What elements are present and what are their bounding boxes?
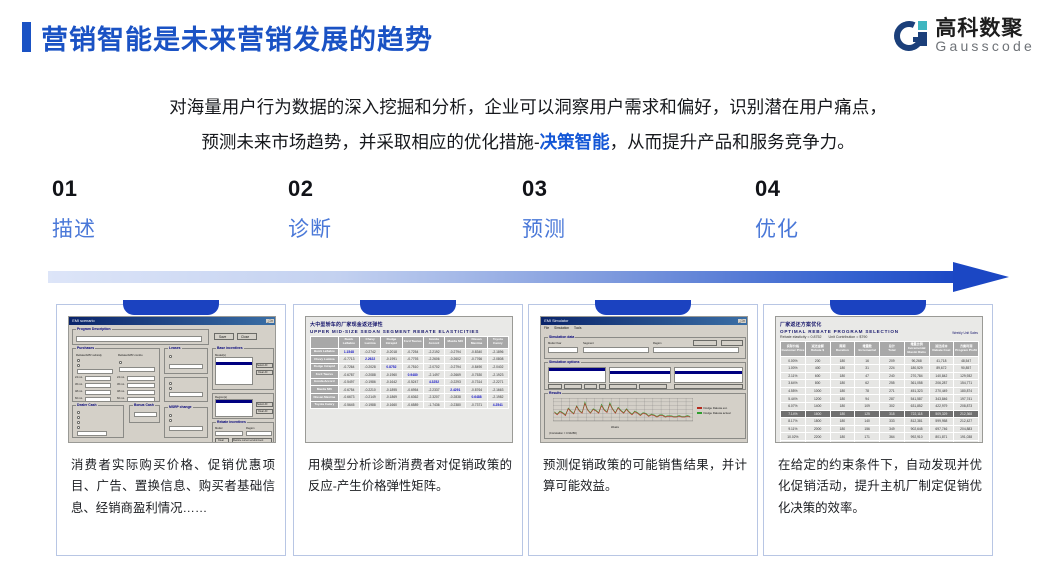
btn-clear-all-1: Clear All	[258, 371, 267, 374]
card-04-caption: 在给定的约束条件下，自动发现并优化促销活动，提升主机厂制定促销优化决策的效率。	[778, 455, 982, 519]
card-row: EMI scenario_□× Program Description Save…	[0, 300, 1051, 556]
lbl-base-incentives: Base incentives	[216, 346, 244, 350]
row2-60mo: 60 mo.	[117, 397, 125, 400]
table-row: Honda Accord-0.5497-0.1986-0.1642-0.5247…	[311, 378, 509, 386]
step-02: 02 诊断	[288, 176, 488, 243]
lbl-rebate-incentives: Rebate incentives	[216, 420, 247, 424]
win-03-title: EMI Simulator	[542, 319, 568, 323]
arrow-head-icon	[953, 262, 1009, 292]
rebate-elasticity-value: Rebate elasticity = 0.8752	[780, 335, 821, 339]
step-04: 04 优化	[755, 176, 955, 243]
row2-36mo: 36 mo.	[117, 383, 125, 386]
lbl-sim-data: Simulation data	[548, 335, 575, 339]
card-04-screenshot: 厂家返还方案优化 OPTIMAL REBATE PROGRAM SELECTIO…	[775, 316, 983, 443]
lbl-purchases: Purchases	[76, 346, 95, 350]
slide: 营销智能是未来营销发展的趋势 高科数聚 Gausscode 对海量用户行为数据的…	[0, 0, 1051, 586]
card-03-tab	[595, 300, 691, 315]
menu-tools[interactable]: Tools	[574, 326, 581, 330]
card-02-tab	[360, 300, 456, 315]
step-01-label: 描述	[52, 213, 252, 243]
table-row: Buick LaSabre1.1548-0.2742-0.2018-0.7254…	[311, 348, 509, 356]
table-row: 8.17%1800180140333812,381599,958212,427	[781, 418, 979, 426]
lbl-model-year: Model Year	[548, 342, 561, 345]
step-03-label: 预测	[522, 213, 722, 243]
matrix-title-en: UPPER MID-SIZE SEDAN SEGMENT REBATE ELAS…	[310, 329, 509, 334]
lbl-sim-options: Simulation options	[548, 360, 581, 364]
table-row: Mazda 626-0.6754-0.2210-0.1895-0.6954-2.…	[311, 386, 509, 394]
lbl-region: Region	[246, 427, 255, 430]
row-60mo: 60 mo.	[75, 397, 83, 400]
card-03-caption: 预测促销政策的可能销售结果，并计算可能效益。	[543, 455, 747, 498]
card-03-screenshot: EMI Simulator_□× File Simulation Tools S…	[540, 316, 748, 443]
btn-select-all-1: Select All	[257, 364, 267, 367]
lbl-rebate-apr-combo: Rebate/APR combo	[118, 353, 143, 357]
logo-name-en: Gausscode	[935, 39, 1035, 53]
lbl-msrp-change: MSRP change	[168, 405, 193, 409]
row2-48mo: 48 mo.	[117, 390, 125, 393]
step-01-number: 01	[52, 176, 252, 202]
row-48mo: 48 mo.	[75, 390, 83, 393]
slide-header: 营销智能是未来营销发展的趋势 高科数聚 Gausscode	[0, 0, 1051, 74]
intro-line-2-post: ，从而提升产品和服务竞争力。	[610, 132, 855, 152]
table-row: 2.11%60018047240270,784140,842129,932	[781, 372, 979, 380]
step-label-row: 01 描述 02 诊断 03 预测 04 优化	[0, 176, 1051, 246]
arrow-shaft	[48, 271, 960, 283]
row-24mo: 24 mo.	[75, 376, 83, 379]
table-header-row: Buick LaSabreChevy LuminaDodge IntrepidF…	[311, 337, 509, 349]
gausscode-logo-icon	[894, 19, 928, 53]
step-02-number: 02	[288, 176, 488, 202]
logo-name-cn: 高科数聚	[935, 18, 1035, 39]
lbl-dealer-cash: Dealer Cash	[76, 403, 98, 407]
legend-swatch-actual	[697, 412, 702, 414]
card-03-predict[interactable]: EMI Simulator_□× File Simulation Tools S…	[528, 304, 758, 556]
btn-clear: Clear	[218, 439, 224, 442]
table-row: 1.00%40018031224180,52989,67290,857	[781, 364, 979, 372]
lbl-segment: Segment	[583, 342, 594, 345]
lbl-leases: Leases	[168, 346, 182, 350]
legend-swatch-est	[697, 407, 702, 409]
simulation-line-chart	[553, 398, 693, 424]
lbl-results: Results	[548, 391, 562, 395]
win-03-menubar[interactable]: File Simulation Tools	[541, 325, 747, 331]
btn-clear-all-2: Clear All	[258, 410, 267, 413]
legend-label-est: Dodge Dakota est.	[704, 406, 728, 410]
lbl-rebate-apr-subsidy: Rebate/APR subsidy	[76, 353, 102, 357]
matrix-title-cn: 大中型轿车的厂家现金返还弹性	[310, 321, 509, 328]
menu-file[interactable]: File	[544, 326, 549, 330]
optimal-title-cn: 厂家返还方案优化	[780, 321, 979, 328]
table-row: 5.44%120018094287541,587343,846197,741	[781, 395, 979, 403]
table-row: 0.00%2001801620990,26841,71848,547	[781, 357, 979, 365]
legend-label-actual: Dodge Dakota actual	[704, 411, 731, 415]
step-02-label: 诊断	[288, 213, 488, 243]
row2-24mo: 24 mo.	[117, 376, 125, 379]
elasticity-matrix-table: Buick LaSabreChevy LuminaDodge IntrepidF…	[310, 336, 509, 409]
win-01-title: EMI scenario	[70, 319, 95, 323]
table-row: 9.11%2000180156349902,645697,746204,883	[781, 425, 979, 433]
row-36mo: 36 mo.	[75, 383, 83, 386]
intro-paragraph: 对海量用户行为数据的深入挖掘和分析，企业可以洞察用户需求和偏好，识别潜在用户痛点…	[48, 90, 1008, 160]
progress-arrow	[48, 262, 1008, 292]
table-row: 3.64%80018062255361,058206,287154,771	[781, 380, 979, 388]
chart-legend-item-actual: Dodge Dakota actual	[697, 411, 731, 415]
table-row-selected: 7.14%1600180125318722,118509,329212,368	[781, 410, 979, 418]
chart-x-axis-label: Weeks	[611, 426, 619, 429]
optimal-title-en: OPTIMAL REBATE PROGRAM SELECTION	[780, 329, 979, 334]
card-04-tab	[830, 300, 926, 315]
title-accent-bar	[22, 22, 31, 52]
brand-logo: 高科数聚 Gausscode	[894, 18, 1035, 54]
lbl-program-description: Program Description	[76, 327, 112, 331]
table-row: 10.93%24001801873801,083,174912,184170,9…	[781, 440, 979, 443]
step-01: 01 描述	[52, 176, 252, 243]
lbl-bonus-cash: Bonus Cash	[133, 403, 155, 407]
intro-line-1: 对海量用户行为数据的深入挖掘和分析，企业可以洞察用户需求和偏好，识别潜在用户痛点…	[169, 97, 887, 117]
table-row: Toyota Camry-0.5645-0.1988-0.1660-0.6589…	[311, 401, 509, 409]
chart-correlation-note: (Correlation = 0.94286)	[549, 432, 577, 435]
card-02-screenshot: 大中型轿车的厂家现金返还弹性 UPPER MID-SIZE SEDAN SEGM…	[305, 316, 513, 443]
btn-restore: Restore current environment	[233, 439, 263, 442]
card-02-caption: 用模型分析诊断消费者对促销政策的反应-产生价格弹性矩阵。	[308, 455, 512, 498]
table-row: 10.02%2200180171364992,910801,871191,038	[781, 433, 979, 441]
table-row: Chevy Lumina-0.77132.2622-0.1991-0.7793-…	[311, 356, 509, 364]
btn-select-all-2: Select All	[257, 403, 267, 406]
card-02-diagnose[interactable]: 大中型轿车的厂家现金返还弹性 UPPER MID-SIZE SEDAN SEGM…	[293, 304, 523, 556]
step-03-number: 03	[522, 176, 722, 202]
lbl-region-3: Region	[653, 342, 662, 345]
step-03: 03 预测	[522, 176, 722, 243]
table-row: Dodge Intrepid-0.7264-0.20280.8752-0.751…	[311, 363, 509, 371]
chart-legend-item-est: Dodge Dakota est.	[697, 406, 727, 410]
card-01-caption: 消费者实际购买价格、促销优惠项目、广告、置换信息、购买者基础信息、经销商盈利情况…	[71, 455, 275, 519]
menu-simulation[interactable]: Simulation	[554, 326, 569, 330]
btn-close-label: Close	[241, 335, 249, 339]
page-title: 营销智能是未来营销发展的趋势	[41, 18, 433, 57]
table-row: Ford Taurus-0.6787-0.2088-0.19600.9480-2…	[311, 371, 509, 379]
step-04-number: 04	[755, 176, 955, 202]
step-04-label: 优化	[755, 213, 955, 243]
intro-highlight: 决策智能	[540, 132, 610, 152]
unit-contribution-value: Unit Contribution = $790	[828, 335, 867, 339]
card-01-describe[interactable]: EMI scenario_□× Program Description Save…	[56, 304, 286, 556]
optimal-rebate-table: 实际价格Customer Price返还金额Rebate $周期Duration…	[780, 341, 979, 443]
weekly-unit-sales-note: Weekly Unit Sales	[952, 331, 978, 335]
card-01-tab	[123, 300, 219, 315]
card-04-optimize[interactable]: 厂家返还方案优化 OPTIMAL REBATE PROGRAM SELECTIO…	[763, 304, 993, 556]
lbl-model: Model	[215, 427, 222, 430]
table-row: 6.07%1400180109302631,852422,979208,873	[781, 402, 979, 410]
table-row: Nissan Maxima-0.6673-0.2149-0.1869-0.636…	[311, 394, 509, 402]
btn-save-label: Save	[219, 335, 226, 339]
intro-line-2-pre: 预测未来市场趋势，并采取相应的优化措施-	[201, 132, 539, 152]
table-row: 4.55%100018078271451,323270,449180,874	[781, 387, 979, 395]
table-header-row: 实际价格Customer Price返还金额Rebate $周期Duration…	[781, 342, 979, 357]
card-01-screenshot: EMI scenario_□× Program Description Save…	[68, 316, 276, 443]
